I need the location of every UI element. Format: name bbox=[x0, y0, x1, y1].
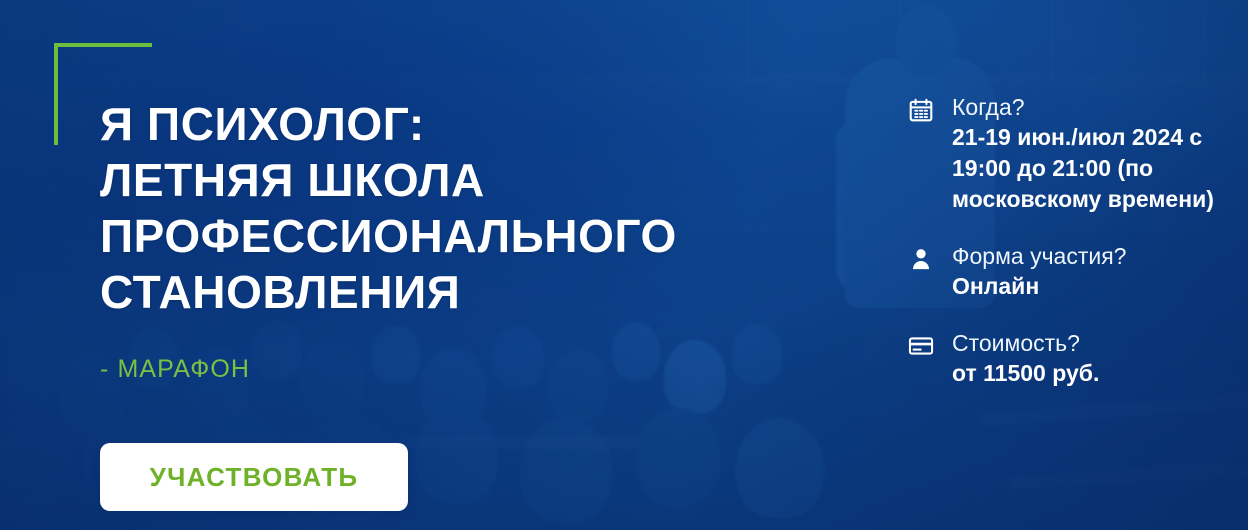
detail-item-format: Форма участия? Онлайн bbox=[908, 241, 1238, 302]
detail-question-price: Стоимость? bbox=[952, 328, 1238, 358]
participate-button[interactable]: УЧАСТВОВАТЬ bbox=[100, 443, 408, 511]
detail-text-when: Когда? 21-19 июн./июл 2024 с 19:00 до 21… bbox=[952, 92, 1238, 215]
banner-content: Я ПСИХОЛОГ: ЛЕТНЯЯ ШКОЛА ПРОФЕССИОНАЛЬНО… bbox=[0, 0, 1248, 530]
detail-question-format: Форма участия? bbox=[952, 241, 1238, 271]
detail-text-price: Стоимость? от 11500 руб. bbox=[952, 328, 1238, 389]
calendar-icon bbox=[908, 97, 934, 123]
event-details-list: Когда? 21-19 июн./июл 2024 с 19:00 до 21… bbox=[908, 92, 1238, 389]
credit-card-icon bbox=[908, 333, 934, 359]
page-title: Я ПСИХОЛОГ: ЛЕТНЯЯ ШКОЛА ПРОФЕССИОНАЛЬНО… bbox=[100, 96, 820, 320]
detail-answer-format: Онлайн bbox=[952, 271, 1238, 302]
headline-line-2: ЛЕТНЯЯ ШКОЛА bbox=[100, 152, 820, 208]
event-promo-banner: Я ПСИХОЛОГ: ЛЕТНЯЯ ШКОЛА ПРОФЕССИОНАЛЬНО… bbox=[0, 0, 1248, 530]
detail-text-format: Форма участия? Онлайн bbox=[952, 241, 1238, 302]
person-icon bbox=[908, 246, 934, 272]
detail-item-when: Когда? 21-19 июн./июл 2024 с 19:00 до 21… bbox=[908, 92, 1238, 215]
headline-line-4: СТАНОВЛЕНИЯ bbox=[100, 264, 820, 320]
headline-line-1: Я ПСИХОЛОГ: bbox=[100, 96, 820, 152]
detail-answer-price: от 11500 руб. bbox=[952, 358, 1238, 389]
detail-answer-when: 21-19 июн./июл 2024 с 19:00 до 21:00 (по… bbox=[952, 122, 1238, 215]
detail-item-price: Стоимость? от 11500 руб. bbox=[908, 328, 1238, 389]
detail-question-when: Когда? bbox=[952, 92, 1238, 122]
headline-line-3: ПРОФЕССИОНАЛЬНОГО bbox=[100, 208, 820, 264]
subtitle-marathon: - МАРАФОН bbox=[100, 355, 250, 384]
